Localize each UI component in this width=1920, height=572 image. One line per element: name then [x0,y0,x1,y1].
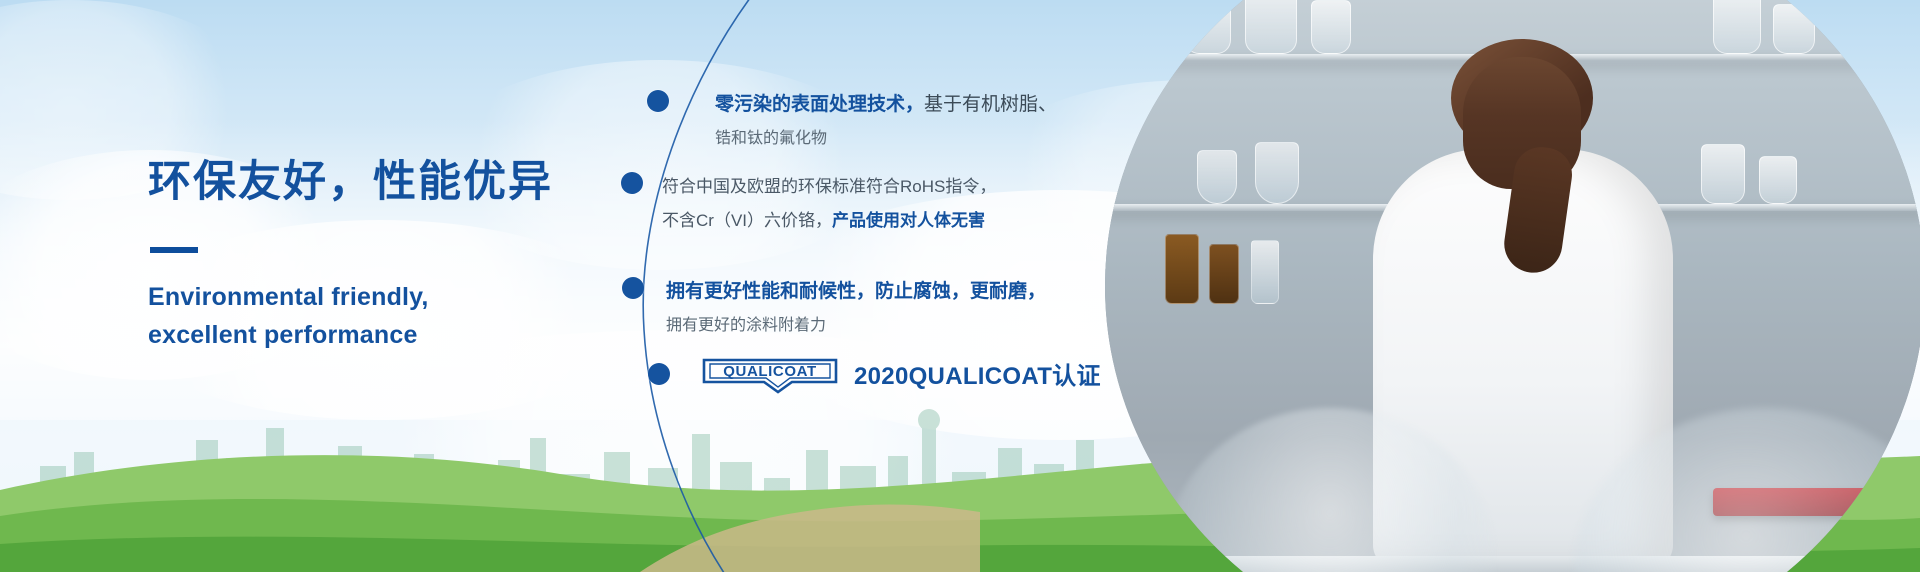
title-divider [150,247,198,253]
feature-item-1: 零污染的表面处理技术，基于有机树脂、 锆和钛的氟化物 [715,88,1057,156]
hero-text-block: 环保友好，性能优异 Environmental friendly, excell… [148,158,628,354]
flask-2 [1255,142,1299,204]
feature-2-line-1: 符合中国及欧盟的环保标准符合RoHS指令， [662,170,996,204]
feature-3-line-2: 拥有更好的涂料附着力 [666,309,1046,343]
subtitle-line-1: Environmental friendly, [148,279,628,317]
bottle-clear-1 [1251,240,1279,304]
page-subtitle: Environmental friendly, excellent perfor… [148,279,628,354]
bullet-dot-3 [622,277,644,299]
glassware-6 [1701,144,1745,204]
lab-photo-inner [1105,0,1920,572]
glassware-3 [1311,0,1351,54]
certification-label: 2020QUALICOAT认证 [854,356,1101,391]
feature-item-2: 符合中国及欧盟的环保标准符合RoHS指令， 不含Cr（VI）六价铬，产品使用对人… [662,170,996,238]
glassware-2 [1245,0,1297,54]
bottle-amber-2 [1209,244,1239,304]
feature-2-line-2: 不含Cr（VI）六价铬，产品使用对人体无害 [662,204,996,238]
feature-1-line-1: 零污染的表面处理技术，基于有机树脂、 [715,88,1057,122]
feature-2-strong: 产品使用对人体无害 [832,211,985,230]
feature-1-line-2: 锆和钛的氟化物 [715,122,1057,156]
glassware-4 [1713,0,1761,54]
bullet-dot-1 [647,90,669,112]
flask-1 [1197,150,1237,204]
bottle-amber-1 [1165,234,1199,304]
certification-row: QUALICOAT 2020QUALICOAT认证 [700,352,1101,394]
bullet-dot-4 [648,363,670,385]
glassware-1 [1185,0,1231,54]
page-title: 环保友好，性能优异 [148,158,628,207]
qualicoat-logo: QUALICOAT [700,352,840,394]
glassware-5 [1773,4,1815,54]
hero-banner: 环保友好，性能优异 Environmental friendly, excell… [0,0,1920,572]
feature-1-strong: 零污染的表面处理技术， [715,94,924,115]
lab-photo [1105,0,1920,572]
bullet-dot-2 [621,172,643,194]
glassware-7 [1759,156,1797,204]
feature-3-line-1: 拥有更好性能和耐候性，防止腐蚀，更耐磨， [666,275,1046,309]
feature-item-3: 拥有更好性能和耐候性，防止腐蚀，更耐磨， 拥有更好的涂料附着力 [666,275,1046,343]
subtitle-line-2: excellent performance [148,317,628,355]
feature-1-rest: 基于有机树脂、 [924,94,1057,115]
feature-2-normal: 不含Cr（VI）六价铬， [662,211,832,230]
svg-text:QUALICOAT: QUALICOAT [723,363,816,380]
